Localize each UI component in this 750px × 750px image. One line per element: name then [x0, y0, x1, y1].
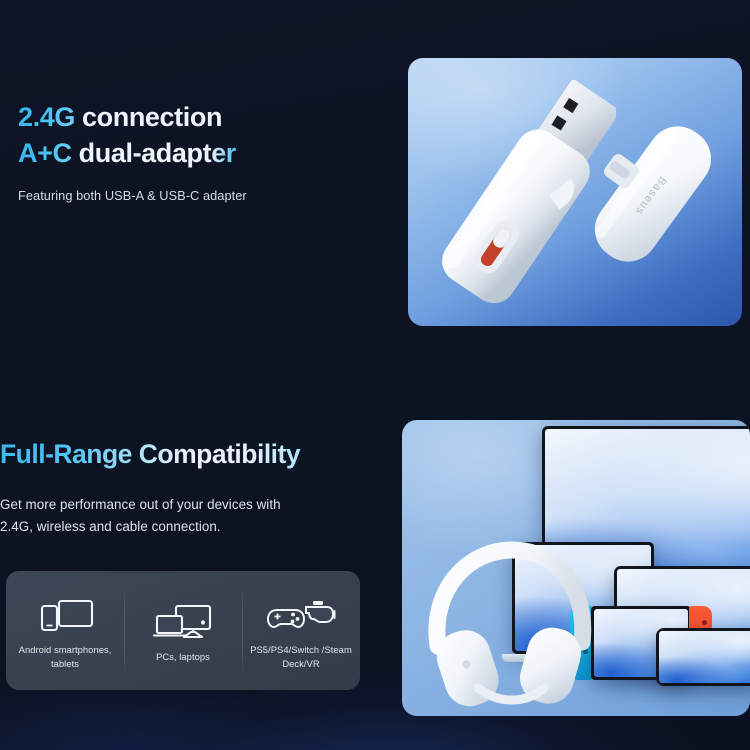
section-one-headline-line1: 2.4G connection: [18, 100, 388, 136]
subcopy-line-1: Get more performance out of your devices…: [0, 494, 400, 516]
section-one-headline-line2: A+C dual-adapter: [18, 136, 388, 172]
product-image-dongles: Baseus: [408, 58, 742, 326]
compat-item-console[interactable]: PS5/PS4/Switch /Steam Deck/VR: [242, 571, 360, 690]
compat-label-android: Android smartphones, tablets: [8, 643, 122, 671]
phone-tablet-icon: [33, 594, 97, 634]
compat-item-pc[interactable]: PCs, laptops: [124, 571, 242, 690]
phone-device: [656, 628, 750, 686]
gamepad-vr-icon: [265, 594, 337, 634]
section-one-copy: 2.4G connection A+C dual-adapter Featuri…: [18, 100, 388, 207]
headphones-device: [420, 538, 600, 708]
usb-c-dongle: Baseus: [584, 106, 724, 286]
section-two-subcopy: Get more performance out of your devices…: [0, 494, 400, 537]
laptop-monitor-icon: [151, 601, 215, 641]
compat-label-console: PS5/PS4/Switch /Steam Deck/VR: [244, 643, 358, 671]
compatibility-panel: Android smartphones, tablets PCs, laptop…: [6, 571, 360, 690]
headline-accent-2-4g: 2.4G: [18, 102, 75, 132]
headline-text-connection: connection: [75, 102, 222, 132]
headline-text-dual-adapt: dual-adapt: [72, 138, 212, 168]
section-one-subcopy: Featuring both USB-A & USB-C adapter: [18, 186, 388, 207]
section-two-copy: Full-Range Compatibility Get more perfor…: [0, 437, 400, 537]
section-two-headline: Full-Range Compatibility: [0, 437, 400, 472]
compat-label-pc: PCs, laptops: [156, 650, 210, 664]
compat-item-android[interactable]: Android smartphones, tablets: [6, 571, 124, 690]
headline-accent-a-plus-c: A+C: [18, 138, 72, 168]
subcopy-line-2: 2.4G, wireless and cable connection.: [0, 516, 400, 538]
devices-image-lineup: [402, 420, 750, 716]
headline-text-er: er: [211, 138, 236, 168]
promo-page: 2.4G connection A+C dual-adapter Featuri…: [0, 0, 750, 750]
